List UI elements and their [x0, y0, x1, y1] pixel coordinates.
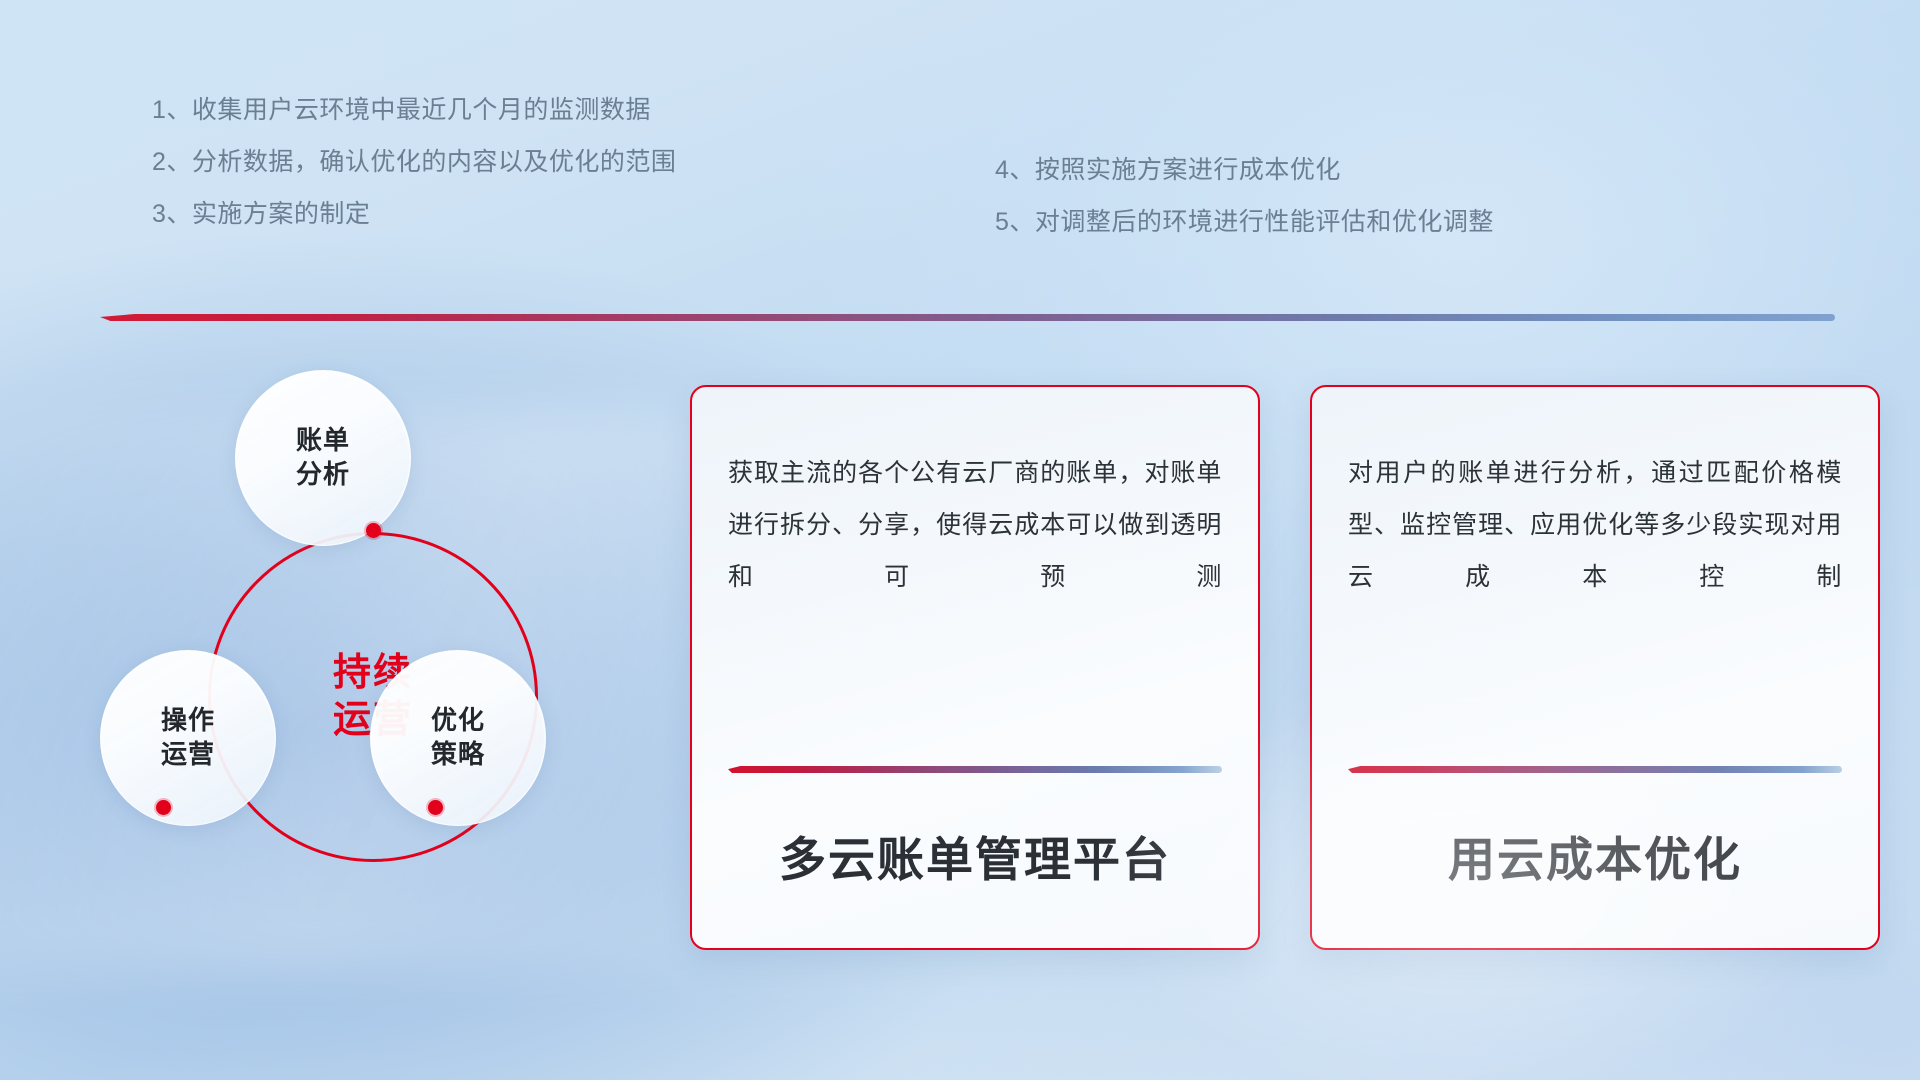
connector-dot-bottom-left-icon — [156, 800, 171, 815]
process-list-left: 1、收集用户云环境中最近几个月的监测数据 2、分析数据，确认优化的内容以及优化的… — [152, 98, 676, 254]
bubble-label-line-1: 优化 — [431, 704, 485, 738]
bubble-label-line-2: 策略 — [431, 738, 485, 772]
feature-card-cloud-cost-optimization[interactable]: 对用户的账单进行分析，通过匹配价格模型、监控管理、应用优化等多少段实现对用云成本… — [1310, 385, 1880, 950]
bubble-label-line-1: 账单 — [296, 424, 350, 458]
diagram-node-operations[interactable]: 操作 运营 — [100, 650, 276, 826]
card-body-text: 对用户的账单进行分析，通过匹配价格模型、监控管理、应用优化等多少段实现对用云成本… — [1348, 447, 1842, 603]
connector-dot-top-icon — [366, 523, 381, 538]
continuous-operation-diagram: 持续 运营 账单 分析 操作 运营 优化 策略 — [100, 360, 620, 920]
list-item: 4、按照实施方案进行成本优化 — [995, 158, 1494, 183]
section-divider — [100, 314, 1835, 321]
connector-dot-bottom-right-icon — [428, 800, 443, 815]
card-divider — [728, 766, 1222, 773]
bubble-label-line-2: 运营 — [161, 738, 215, 772]
list-item: 3、实施方案的制定 — [152, 202, 676, 227]
bubble-label-line-2: 分析 — [296, 458, 350, 492]
feature-card-multicloud-billing[interactable]: 获取主流的各个公有云厂商的账单，对账单进行拆分、分享，使得云成本可以做到透明和可… — [690, 385, 1260, 950]
diagram-node-optimization-strategy[interactable]: 优化 策略 — [370, 650, 546, 826]
card-title: 用云成本优化 — [1348, 773, 1842, 948]
list-item: 2、分析数据，确认优化的内容以及优化的范围 — [152, 150, 676, 175]
diagram-node-bill-analysis[interactable]: 账单 分析 — [235, 370, 411, 546]
card-body-text: 获取主流的各个公有云厂商的账单，对账单进行拆分、分享，使得云成本可以做到透明和可… — [728, 447, 1222, 603]
card-divider — [1348, 766, 1842, 773]
card-title: 多云账单管理平台 — [728, 773, 1222, 948]
list-item: 1、收集用户云环境中最近几个月的监测数据 — [152, 98, 676, 123]
slide-canvas: 1、收集用户云环境中最近几个月的监测数据 2、分析数据，确认优化的内容以及优化的… — [0, 0, 1920, 1080]
list-item: 5、对调整后的环境进行性能评估和优化调整 — [995, 210, 1494, 235]
bubble-label-line-1: 操作 — [161, 704, 215, 738]
process-list-right: 4、按照实施方案进行成本优化 5、对调整后的环境进行性能评估和优化调整 — [995, 158, 1494, 262]
